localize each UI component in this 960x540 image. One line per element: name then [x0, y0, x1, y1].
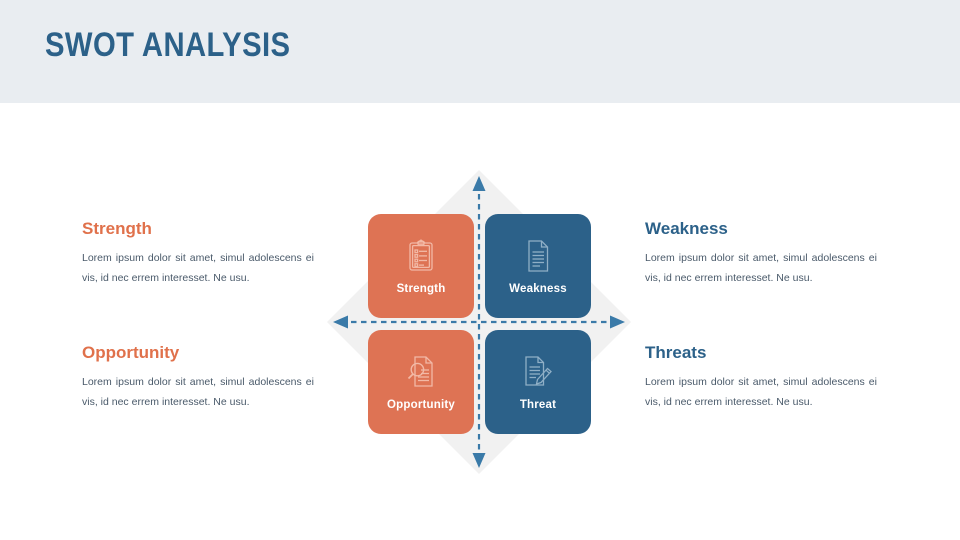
opportunity-heading: Opportunity	[82, 344, 314, 363]
weakness-body: Lorem ipsum dolor sit amet, simul adoles…	[645, 248, 877, 289]
clipboard-checklist-icon	[404, 237, 438, 275]
swot-card-threat-label: Threat	[520, 400, 556, 412]
text-block-strength: Strength Lorem ipsum dolor sit amet, sim…	[82, 220, 314, 289]
page-title: SWOT ANALYSIS	[45, 26, 291, 65]
swot-card-strength[interactable]: Strength	[368, 214, 474, 318]
swot-matrix-diagram: Strength Weakness	[319, 162, 639, 482]
threats-heading: Threats	[645, 344, 877, 363]
text-block-weakness: Weakness Lorem ipsum dolor sit amet, sim…	[645, 220, 877, 289]
document-lines-icon	[521, 237, 555, 275]
strength-body: Lorem ipsum dolor sit amet, simul adoles…	[82, 248, 314, 289]
swot-card-opportunity[interactable]: Opportunity	[368, 330, 474, 434]
document-magnifier-icon	[404, 353, 438, 391]
swot-card-strength-label: Strength	[397, 284, 446, 296]
swot-card-threat[interactable]: Threat	[485, 330, 591, 434]
threats-body: Lorem ipsum dolor sit amet, simul adoles…	[645, 372, 877, 413]
document-pencil-icon	[521, 353, 555, 391]
text-block-threats: Threats Lorem ipsum dolor sit amet, simu…	[645, 344, 877, 413]
swot-card-weakness-label: Weakness	[509, 284, 567, 296]
opportunity-body: Lorem ipsum dolor sit amet, simul adoles…	[82, 372, 314, 413]
swot-card-weakness[interactable]: Weakness	[485, 214, 591, 318]
weakness-heading: Weakness	[645, 220, 877, 239]
swot-card-opportunity-label: Opportunity	[387, 400, 455, 412]
strength-heading: Strength	[82, 220, 314, 239]
text-block-opportunity: Opportunity Lorem ipsum dolor sit amet, …	[82, 344, 314, 413]
